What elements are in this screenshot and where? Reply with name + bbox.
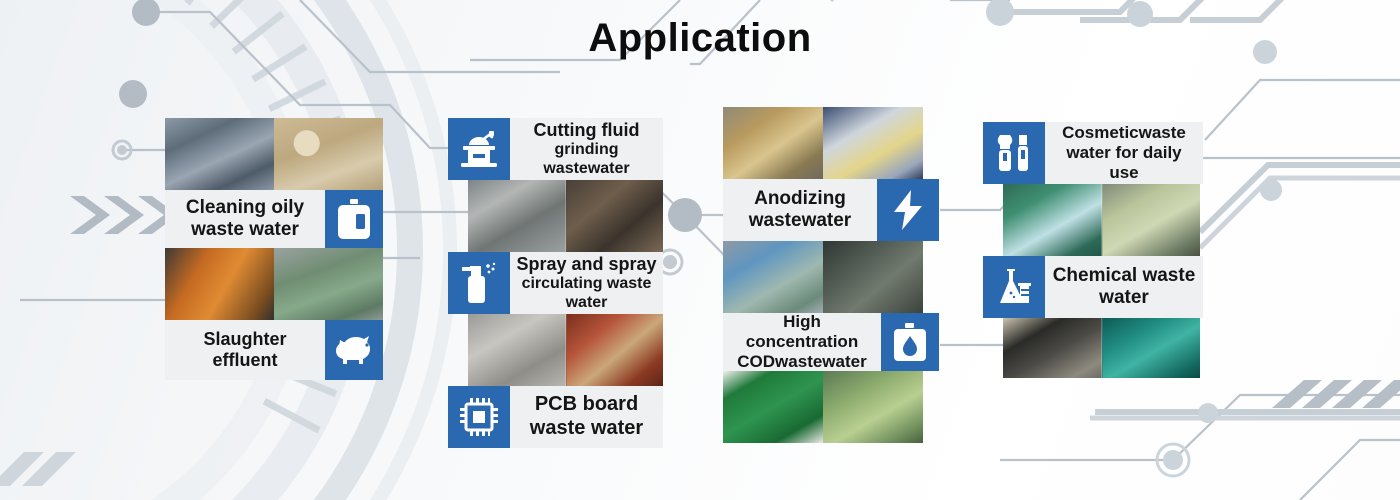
card-line2: water for daily use: [1051, 143, 1197, 183]
jerrycan-icon: [325, 190, 383, 248]
card-cutting-fluid-grinding-wastewater[interactable]: Cutting fluid grinding wastewater: [448, 118, 663, 180]
photo-anodizing-tank: [723, 107, 823, 179]
photo-cnc-machining: [165, 118, 274, 190]
card-line1: PCB board: [516, 393, 657, 417]
photo-teal-tank-surface: [1102, 318, 1201, 378]
photo-pcb-board: [723, 371, 823, 443]
card-label-text: Anodizing wastewater: [723, 188, 877, 233]
card-line2: water: [1051, 287, 1197, 309]
card-line1: Cosmeticwaste: [1051, 123, 1197, 143]
hatch-stripes-bottom-right: [1272, 380, 1400, 408]
chevron-arrows-left: [70, 196, 178, 234]
photo-storage-tank: [823, 241, 923, 313]
photo-filter-vessels: [1102, 184, 1201, 256]
card-label-text: PCB board waste water: [510, 393, 663, 440]
card-high-concentration-cod-wastewater[interactable]: High concentration CODwastewater: [723, 313, 939, 371]
card-label-text: Slaughter effluent: [165, 329, 325, 371]
card-line2: waste water: [171, 219, 319, 241]
photo-treatment-tanks: [274, 248, 383, 320]
grinder-icon: [448, 118, 510, 180]
chip-icon: [448, 386, 510, 448]
card-line2: waste water: [516, 417, 657, 441]
card-label-text: Spray and spray circulating waste water: [510, 254, 663, 313]
photo-pair-pcb-green: [723, 371, 923, 443]
photo-orange-effluent: [165, 248, 274, 320]
photo-slaughterhouse: [566, 314, 664, 386]
card-anodizing-wastewater[interactable]: Anodizing wastewater: [723, 179, 939, 241]
cosmetics-icon: [983, 122, 1045, 184]
card-line2: grinding wastewater: [516, 141, 657, 179]
droplet-jerrycan-icon: [881, 313, 939, 371]
photo-aeration-basin: [723, 241, 823, 313]
card-label-text: Cutting fluid grinding wastewater: [510, 120, 663, 179]
card-line2: circulating waste water: [516, 275, 657, 313]
card-chemical-waste-water[interactable]: Chemical waste water: [983, 256, 1203, 318]
flask-beaker-icon: [983, 256, 1045, 318]
lightning-bolt-icon: [877, 179, 939, 241]
photo-pair-cod: [723, 241, 923, 313]
card-slaughter-effluent[interactable]: Slaughter effluent: [165, 320, 383, 380]
photo-chemical-plant: [1003, 318, 1102, 378]
photo-grinding-sludge: [566, 180, 664, 252]
photo-pair-cosmetic: [1003, 184, 1200, 256]
photo-concrete-basin: [468, 314, 566, 386]
card-line1: Spray and spray: [516, 254, 657, 275]
card-line1: Cutting fluid: [516, 120, 657, 141]
photo-lab-beakers: [823, 107, 923, 179]
photo-pair-slaughter: [165, 248, 383, 320]
card-label-text: Cleaning oily waste water: [165, 197, 325, 242]
photo-foam-sludge: [274, 118, 383, 190]
photo-pair-grinding: [468, 180, 663, 252]
photo-pair-cnc-coolant: [165, 118, 383, 190]
card-line1: High concentration: [729, 312, 875, 352]
card-label-text: Chemical waste water: [1045, 265, 1203, 310]
photo-pair-chemical: [1003, 318, 1200, 378]
card-cosmetic-waste-water-for-daily-use[interactable]: Cosmeticwaste water for daily use: [983, 122, 1203, 184]
card-line1: Slaughter effluent: [171, 329, 319, 371]
photo-pair-anodizing: [723, 107, 923, 179]
photo-green-tank-surface: [823, 371, 923, 443]
photo-green-aeration-pool: [1003, 184, 1102, 256]
application-poster: Application Cleaning oily waste water Sl…: [0, 0, 1400, 500]
card-pcb-board-waste-water[interactable]: PCB board waste water: [448, 386, 663, 448]
photo-settling-basin: [468, 180, 566, 252]
spray-bottle-icon: [448, 252, 510, 314]
card-line2: wastewater: [729, 210, 871, 232]
card-line1: Anodizing: [729, 188, 871, 210]
photo-pair-pcb-slaughter: [468, 314, 663, 386]
card-line1: Chemical waste: [1051, 265, 1197, 287]
card-label-text: High concentration CODwastewater: [723, 312, 881, 372]
page-title: Application: [0, 16, 1400, 61]
card-line2: CODwastewater: [729, 352, 875, 372]
card-spray-and-spray-circulating-waste-water[interactable]: Spray and spray circulating waste water: [448, 252, 663, 314]
card-line1: Cleaning oily: [171, 197, 319, 219]
hatch-stripes-left-mid: [0, 452, 76, 486]
card-cleaning-oily-waste-water[interactable]: Cleaning oily waste water: [165, 190, 383, 248]
card-label-text: Cosmeticwaste water for daily use: [1045, 123, 1203, 183]
pig-icon: [325, 320, 383, 380]
